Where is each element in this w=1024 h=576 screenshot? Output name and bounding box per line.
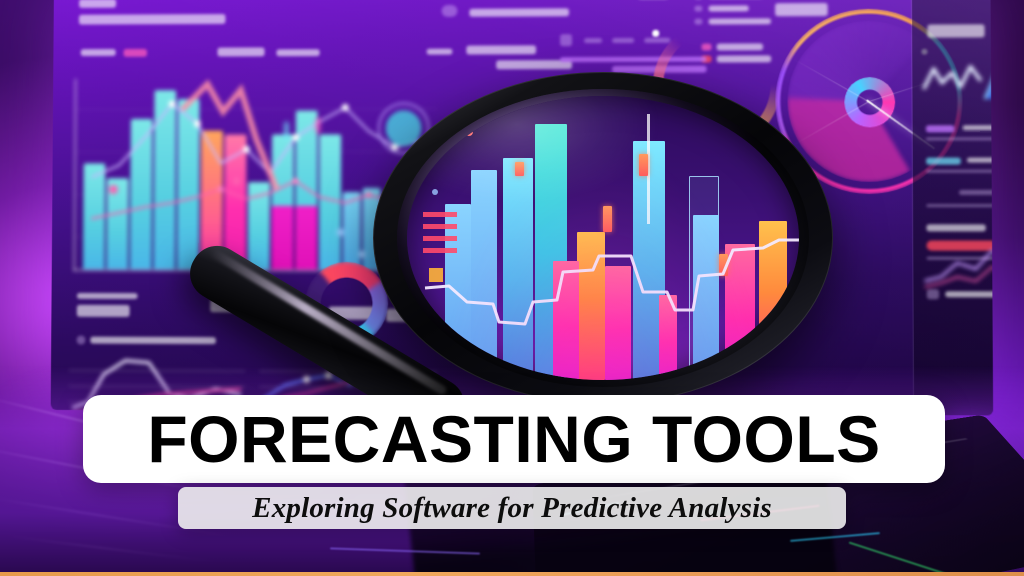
subtitle-card: Exploring Software for Predictive Analys… xyxy=(178,487,846,529)
kpi-value-2 xyxy=(217,47,264,56)
sparkline-left xyxy=(921,59,983,102)
page-title: FORECASTING TOOLS xyxy=(147,406,880,472)
data-point-marker xyxy=(359,251,366,258)
progress-label-4 xyxy=(926,224,985,231)
legend-dot-2 xyxy=(694,6,702,12)
panel-icon xyxy=(560,34,572,46)
axis-tick-label xyxy=(77,293,138,299)
magnifier-lens xyxy=(407,96,799,380)
gauge-value-label xyxy=(775,3,828,16)
axis-tick-value xyxy=(77,305,130,317)
data-point-marker xyxy=(109,185,118,194)
panel-tag-1 xyxy=(584,38,602,43)
page-subtitle: Exploring Software for Predictive Analys… xyxy=(252,492,772,525)
panel-bullet xyxy=(77,336,86,345)
dashboard-header-meta xyxy=(469,8,569,16)
panel-title xyxy=(90,337,216,344)
magnifying-glass xyxy=(373,72,833,404)
progress-label xyxy=(963,125,993,130)
progress-label-3 xyxy=(959,190,993,195)
kpi-delta xyxy=(124,49,147,57)
thumbnail-canvas: FORECASTING TOOLS Exploring Software for… xyxy=(0,0,1024,576)
legend-label-2 xyxy=(708,5,748,11)
candle-wick xyxy=(316,118,321,134)
progress-track xyxy=(926,137,993,140)
title-card: FORECASTING TOOLS xyxy=(83,395,945,483)
side-trend-line xyxy=(922,232,993,293)
kpi-value-5 xyxy=(466,45,536,54)
dashboard-header-subline xyxy=(79,14,226,25)
kpi-value-4 xyxy=(427,49,453,55)
kpi-value xyxy=(81,49,116,56)
data-point-marker xyxy=(337,229,344,236)
marker-dot xyxy=(652,30,659,37)
progress-track-2 xyxy=(926,170,993,173)
progress-label-2 xyxy=(967,157,993,162)
kpi-value-3 xyxy=(276,49,319,56)
progress-fill-2 xyxy=(926,158,961,165)
bottom-accent-strip xyxy=(0,572,1024,576)
dashboard-header-line xyxy=(79,0,116,8)
progress-fill xyxy=(926,125,955,132)
magnified-step-line xyxy=(407,96,799,380)
progress-track-3 xyxy=(926,204,993,207)
dashboard-icon-placeholder xyxy=(442,5,458,17)
side-panel-heading xyxy=(927,24,984,37)
data-point-marker xyxy=(232,177,240,185)
candle-wick xyxy=(284,122,289,140)
panel-tag-2 xyxy=(612,38,634,43)
